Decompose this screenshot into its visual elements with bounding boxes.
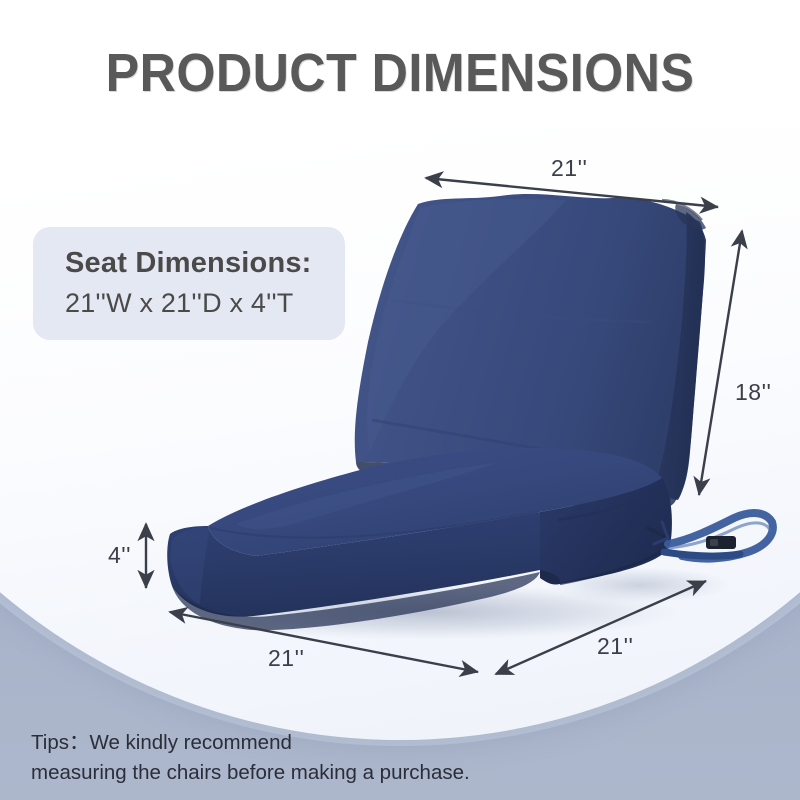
seat-dimensions-heading: Seat Dimensions: [65,245,345,281]
seat-dimensions-value: 21''W x 21''D x 4''T [65,287,345,319]
carry-strap [664,513,773,559]
tips-text: Tips：We kindly recommend measuring the c… [31,728,470,787]
dimension-label-back-width: 21'' [551,155,587,182]
dimension-label-seat-depth: 21'' [597,633,633,660]
product-dimensions-infographic: PRODUCT DIMENSIONS [0,0,800,800]
seat-dimensions-callout: Seat Dimensions: 21''W x 21''D x 4''T [33,227,345,340]
dimension-label-seat-width: 21'' [268,645,304,672]
dimension-label-seat-thickness: 4'' [108,542,131,569]
arrow-back-height [699,231,742,495]
dimension-label-back-height: 18'' [735,379,771,406]
product-illustration [0,0,800,800]
